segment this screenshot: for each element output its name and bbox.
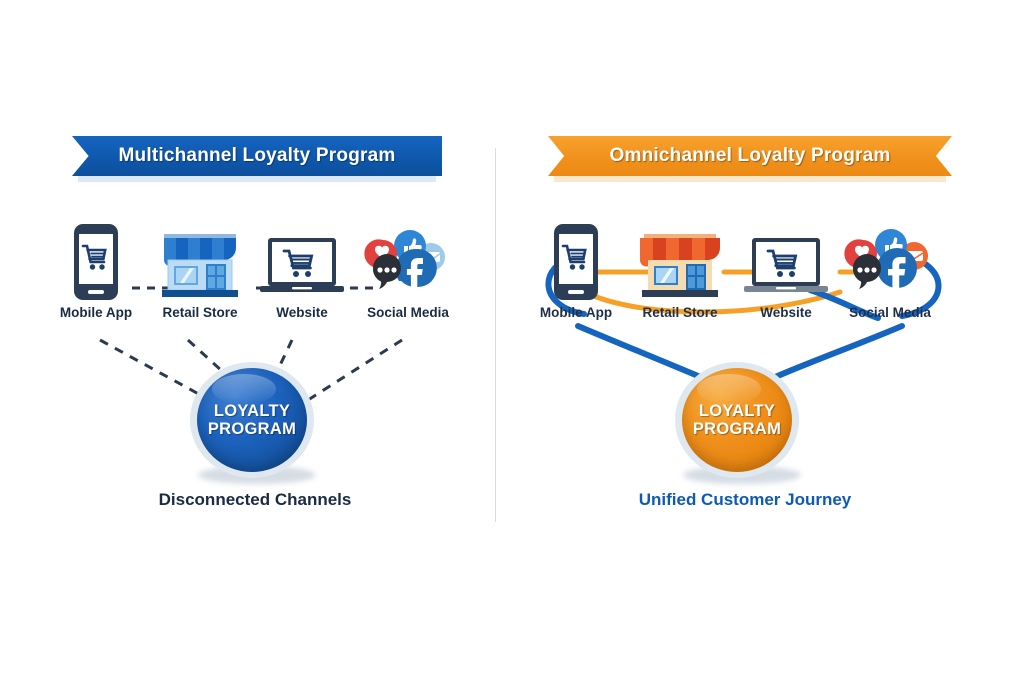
banner-multichannel: Multichannel Loyalty Program — [72, 136, 442, 180]
channel-row-omnichannel: Mobile App — [510, 222, 980, 332]
channel-label: Social Media — [360, 305, 456, 320]
mobile-phone-cart-icon — [48, 222, 144, 302]
mobile-phone-cart-icon — [528, 222, 624, 302]
channel-label: Social Media — [842, 305, 938, 320]
core-line-2: PROGRAM — [693, 420, 781, 438]
banner-omnichannel: Omnichannel Loyalty Program — [548, 136, 952, 180]
vertical-divider — [495, 148, 496, 522]
channel-retail-store[interactable]: Retail Store — [152, 222, 248, 320]
social-cluster-icon — [842, 222, 938, 302]
banner-body: Omnichannel Loyalty Program — [548, 136, 952, 176]
channel-label: Website — [254, 305, 350, 320]
storefront-icon — [152, 222, 248, 302]
panel-multichannel: Multichannel Loyalty Program — [20, 0, 490, 683]
core-line-2: PROGRAM — [208, 420, 296, 438]
infographic-canvas: Multichannel Loyalty Program — [0, 0, 1024, 683]
channel-label: Retail Store — [152, 305, 248, 320]
dots-bubble-icon — [373, 254, 401, 289]
channel-label: Retail Store — [632, 305, 728, 320]
loyalty-core-multichannel[interactable]: LOYALTY PROGRAM — [190, 362, 314, 478]
laptop-cart-icon — [254, 222, 350, 302]
channel-label: Website — [738, 305, 834, 320]
core-ball: LOYALTY PROGRAM — [197, 368, 307, 472]
channel-label: Mobile App — [528, 305, 624, 320]
caption-omnichannel: Unified Customer Journey — [510, 490, 980, 510]
banner-title: Omnichannel Loyalty Program — [610, 145, 891, 167]
channel-retail-store[interactable]: Retail Store — [632, 222, 728, 320]
caption-multichannel: Disconnected Channels — [20, 490, 490, 510]
channel-website[interactable]: Website — [738, 222, 834, 320]
channel-social-media[interactable]: Social Media — [842, 222, 938, 320]
channel-social-media[interactable]: Social Media — [360, 222, 456, 320]
facebook-f-icon — [396, 249, 437, 287]
channel-website[interactable]: Website — [254, 222, 350, 320]
facebook-f-icon — [877, 248, 917, 288]
social-cluster-icon — [360, 222, 456, 302]
banner-body: Multichannel Loyalty Program — [72, 136, 442, 176]
core-ball: LOYALTY PROGRAM — [682, 368, 792, 472]
core-line-1: LOYALTY — [214, 402, 290, 420]
core-line-1: LOYALTY — [699, 402, 775, 420]
channel-label: Mobile App — [48, 305, 144, 320]
channel-mobile-app[interactable]: Mobile App — [528, 222, 624, 320]
storefront-icon — [632, 222, 728, 302]
channel-mobile-app[interactable]: Mobile App — [48, 222, 144, 320]
banner-title: Multichannel Loyalty Program — [119, 145, 396, 167]
connector-layer-multichannel — [20, 0, 490, 683]
laptop-cart-icon — [738, 222, 834, 302]
dots-bubble-icon — [853, 254, 881, 289]
loyalty-core-omnichannel[interactable]: LOYALTY PROGRAM — [675, 362, 799, 478]
panel-omnichannel: Omnichannel Loyalty Program — [510, 0, 980, 683]
dashed-line-social-to-core — [308, 340, 402, 400]
connector-layer-omnichannel — [510, 0, 980, 683]
channel-row-multichannel: Mobile App — [20, 222, 490, 332]
